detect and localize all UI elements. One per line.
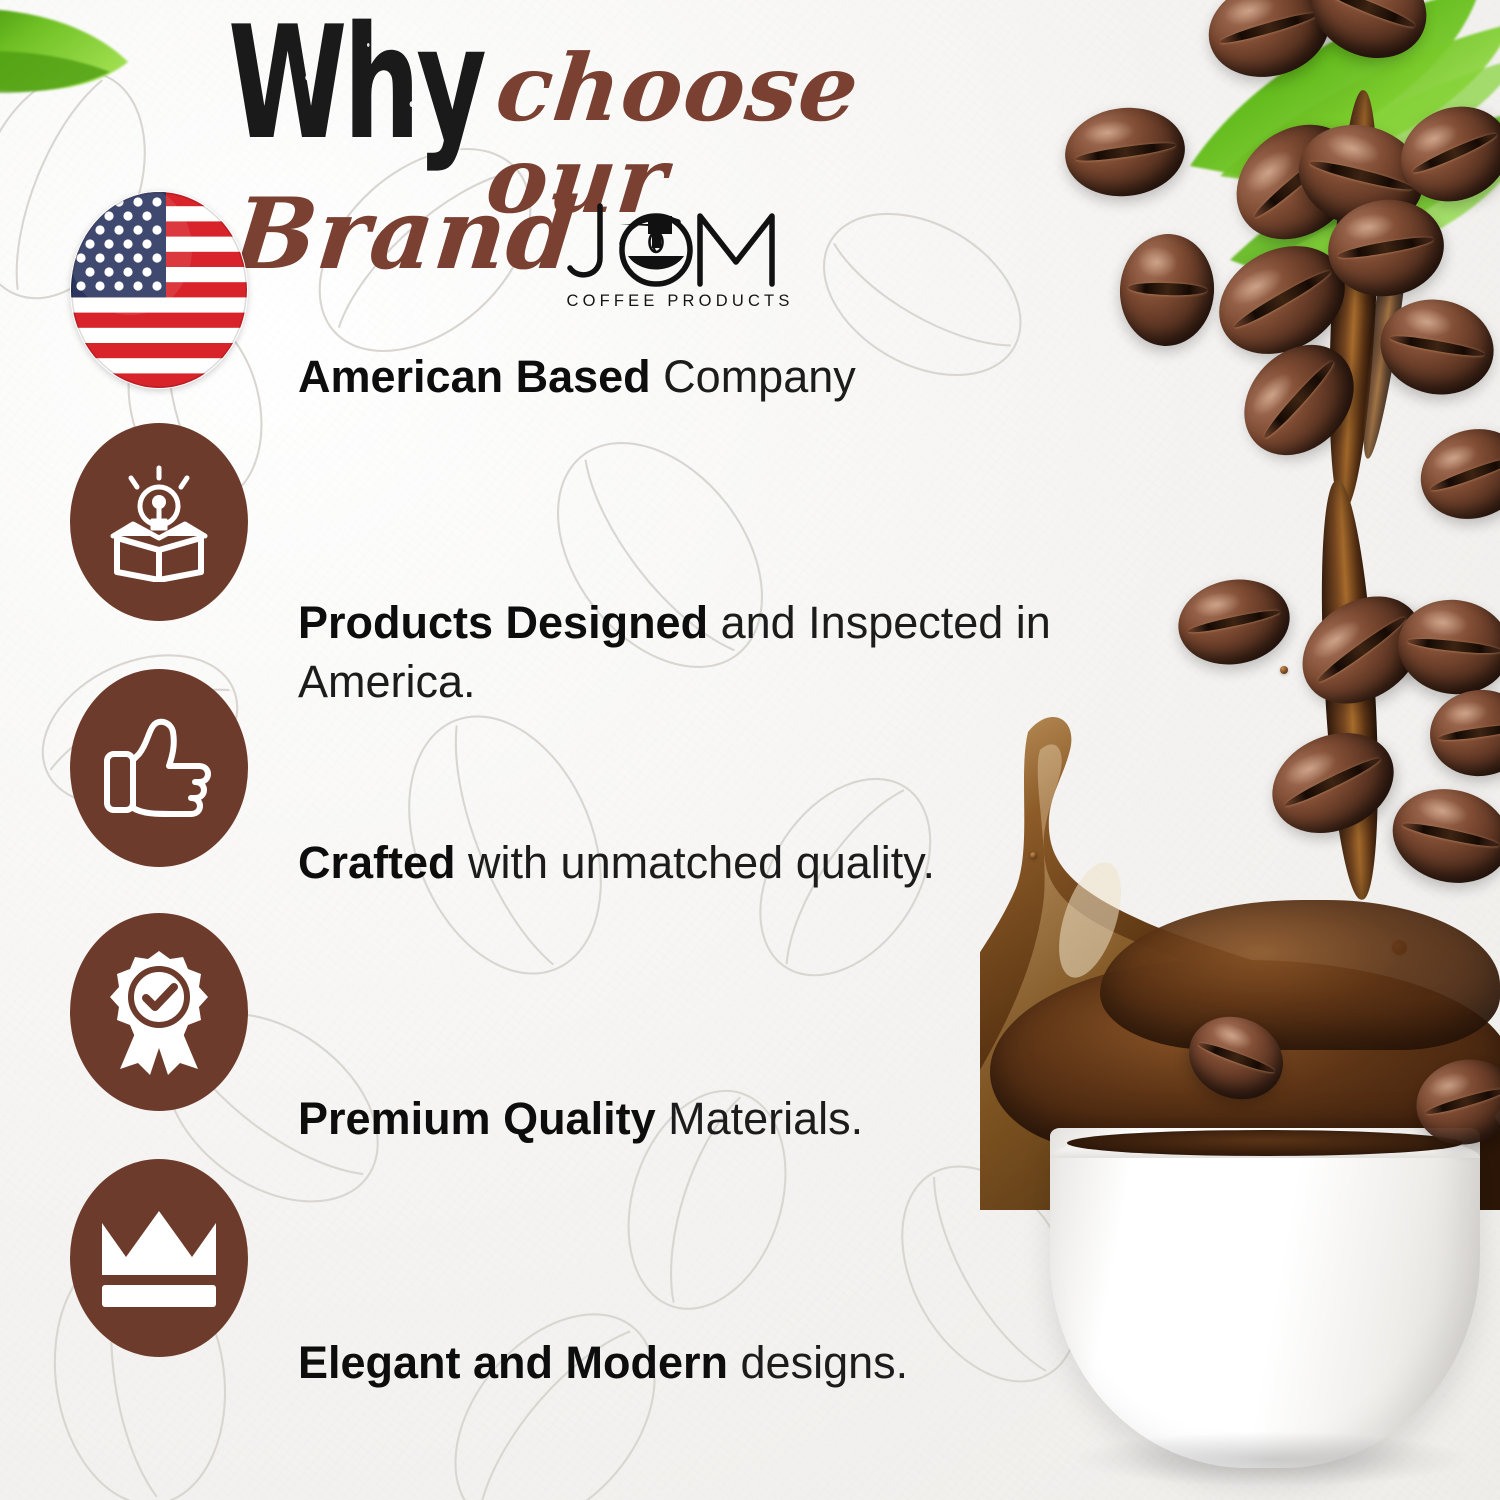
feature-text-bold: Products Designed bbox=[298, 597, 708, 648]
coffee-droplet bbox=[1280, 666, 1288, 674]
coffee-bean bbox=[1172, 571, 1297, 673]
coffee-photo-composition bbox=[980, 0, 1500, 1500]
feature-text: Crafted with unmatched quality. bbox=[298, 834, 1058, 893]
feature-text-bold: Premium Quality bbox=[298, 1093, 656, 1144]
jom-logo-icon bbox=[560, 200, 800, 288]
feature-icon-wrap bbox=[70, 913, 248, 1111]
coffee-cup bbox=[1050, 1128, 1480, 1468]
feature-text: Premium Quality Materials. bbox=[298, 1090, 1058, 1149]
crown-icon bbox=[70, 1159, 248, 1357]
feature-icon-wrap bbox=[70, 423, 248, 621]
feature-text: Products Designed and Inspected in Ameri… bbox=[298, 594, 1058, 711]
feature-text-rest: with unmatched quality. bbox=[456, 837, 935, 888]
cup-coffee-surface bbox=[1067, 1130, 1463, 1156]
quality-badge-icon bbox=[70, 913, 248, 1111]
feature-text-rest: Company bbox=[651, 351, 856, 402]
lightbulb-box-icon bbox=[70, 423, 248, 621]
american-flag-icon bbox=[70, 191, 248, 389]
coffee-bean bbox=[1409, 416, 1500, 532]
feature-text: Elegant and Modern designs. bbox=[298, 1334, 1058, 1393]
feature-text-bold: American Based bbox=[298, 351, 651, 402]
thumbs-up-icon bbox=[70, 669, 248, 867]
headline-why: Why bbox=[228, 6, 483, 162]
feature-icon-wrap bbox=[70, 1159, 248, 1357]
brand-logo: COFFEE PRODUCTS bbox=[560, 200, 800, 320]
feature-text-bold: Elegant and Modern bbox=[298, 1337, 728, 1388]
coffee-bean bbox=[1116, 231, 1218, 349]
feature-text-rest: designs. bbox=[728, 1337, 908, 1388]
feature-text-bold: Crafted bbox=[298, 837, 456, 888]
coffee-droplet bbox=[1030, 852, 1037, 859]
feature-icon-wrap bbox=[70, 191, 248, 389]
feature-icon-wrap bbox=[70, 669, 248, 867]
feature-text-rest: Materials. bbox=[656, 1093, 864, 1144]
logo-tagline: COFFEE PRODUCTS bbox=[560, 292, 800, 311]
headline-brand: Brand bbox=[229, 186, 582, 284]
poster-canvas: Why choose our Brand COFFEE PRODUCTS bbox=[0, 0, 1500, 1500]
feature-text: American Based Company bbox=[298, 348, 1058, 407]
cup-shadow bbox=[1076, 1432, 1466, 1486]
cup-body bbox=[1050, 1128, 1480, 1468]
coffee-bean bbox=[1061, 102, 1190, 202]
